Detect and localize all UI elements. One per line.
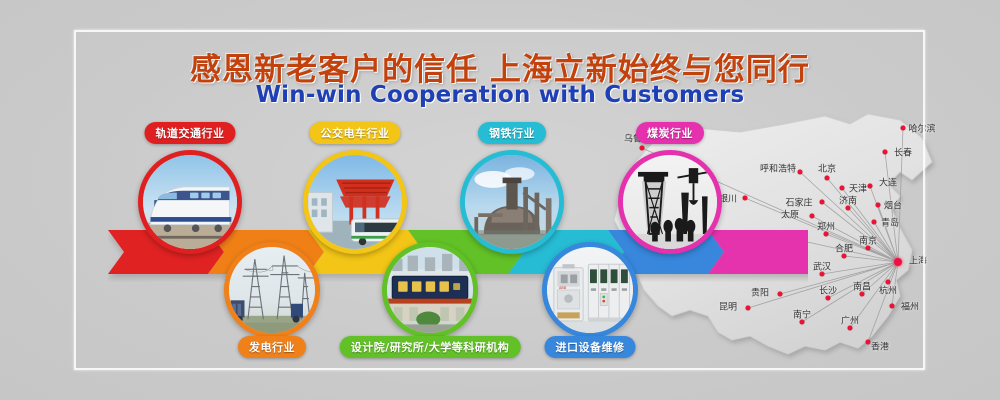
city-dot-1 — [883, 150, 888, 155]
industry-pill-4[interactable]: 发电行业 — [238, 336, 306, 358]
city-label-20: 长沙 — [819, 284, 837, 297]
city-label-1: 长春 — [894, 146, 912, 159]
industry-pill-3[interactable]: 煤炭行业 — [636, 122, 704, 144]
city-label-23: 贵阳 — [751, 286, 769, 299]
city-label-16: 南京 — [859, 234, 877, 247]
city-label-17: 上海 — [909, 254, 927, 267]
industry-circle-1[interactable] — [303, 150, 407, 254]
industry-pill-6[interactable]: 进口设备维修 — [545, 336, 636, 358]
university-icon — [387, 247, 473, 333]
industry-pill-5[interactable]: 设计院/研究所/大学等科研机构 — [340, 336, 521, 358]
industry-circle-5[interactable] — [382, 242, 478, 338]
bus-pavilion-icon — [308, 155, 402, 249]
city-label-19: 杭州 — [879, 284, 897, 297]
city-label-22: 福州 — [901, 300, 919, 313]
industry-circle-0[interactable] — [138, 150, 242, 254]
industry-pill-0[interactable]: 轨道交通行业 — [145, 122, 236, 144]
city-dot-3 — [798, 170, 803, 175]
power-grid-icon — [229, 247, 315, 333]
city-dot-8 — [820, 200, 825, 205]
city-label-12: 青岛 — [881, 216, 899, 229]
city-dot-10 — [876, 203, 881, 208]
city-label-14: 郑州 — [817, 220, 835, 233]
city-label-21: 南昌 — [853, 280, 871, 293]
coal-rig-icon — [623, 155, 717, 249]
city-label-6: 大连 — [879, 176, 897, 189]
city-label-24: 昆明 — [719, 300, 737, 313]
steel-mill-icon — [465, 155, 559, 249]
city-label-18: 武汉 — [813, 260, 831, 273]
city-label-10: 烟台 — [884, 199, 902, 212]
city-label-15: 合肥 — [835, 242, 853, 255]
industry-circle-4[interactable] — [224, 242, 320, 338]
city-dot-6 — [868, 184, 873, 189]
industry-pill-1[interactable]: 公交电车行业 — [310, 122, 401, 144]
industry-circle-3[interactable] — [618, 150, 722, 254]
city-dot-0 — [901, 126, 906, 131]
city-dot-2 — [640, 146, 645, 151]
city-dot-24 — [746, 306, 751, 311]
city-label-25: 南宁 — [793, 308, 811, 321]
industry-circle-6[interactable]: ABB — [542, 242, 638, 338]
page-title-english: Win-win Cooperation with Customers — [0, 82, 1000, 108]
switchgear-icon: ABB — [547, 247, 633, 333]
city-label-3: 呼和浩特 — [760, 162, 796, 175]
city-label-11: 太原 — [781, 208, 799, 221]
city-dot-4 — [825, 176, 830, 181]
banner-stage: 哈尔滨长春乌鲁木齐呼和浩特北京天津大连银川石家庄济南烟台太原青岛西安郑州合肥南京… — [0, 0, 1000, 400]
city-label-9: 济南 — [839, 194, 857, 207]
city-dot-12 — [872, 220, 877, 225]
industry-pill-2[interactable]: 钢铁行业 — [478, 122, 546, 144]
train-icon — [143, 155, 237, 249]
industry-circle-2[interactable] — [460, 150, 564, 254]
city-dot-17 — [894, 258, 902, 266]
city-dot-5 — [840, 186, 845, 191]
city-dot-11 — [810, 214, 815, 219]
city-dot-7 — [743, 196, 748, 201]
city-dot-22 — [890, 304, 895, 309]
city-label-0: 哈尔滨 — [908, 122, 935, 135]
city-dot-27 — [866, 340, 871, 345]
city-dot-23 — [778, 292, 783, 297]
city-label-4: 北京 — [818, 162, 836, 175]
svg-text:ABB: ABB — [559, 286, 567, 290]
city-label-27: 香港 — [871, 340, 889, 353]
city-label-26: 广州 — [841, 314, 859, 327]
